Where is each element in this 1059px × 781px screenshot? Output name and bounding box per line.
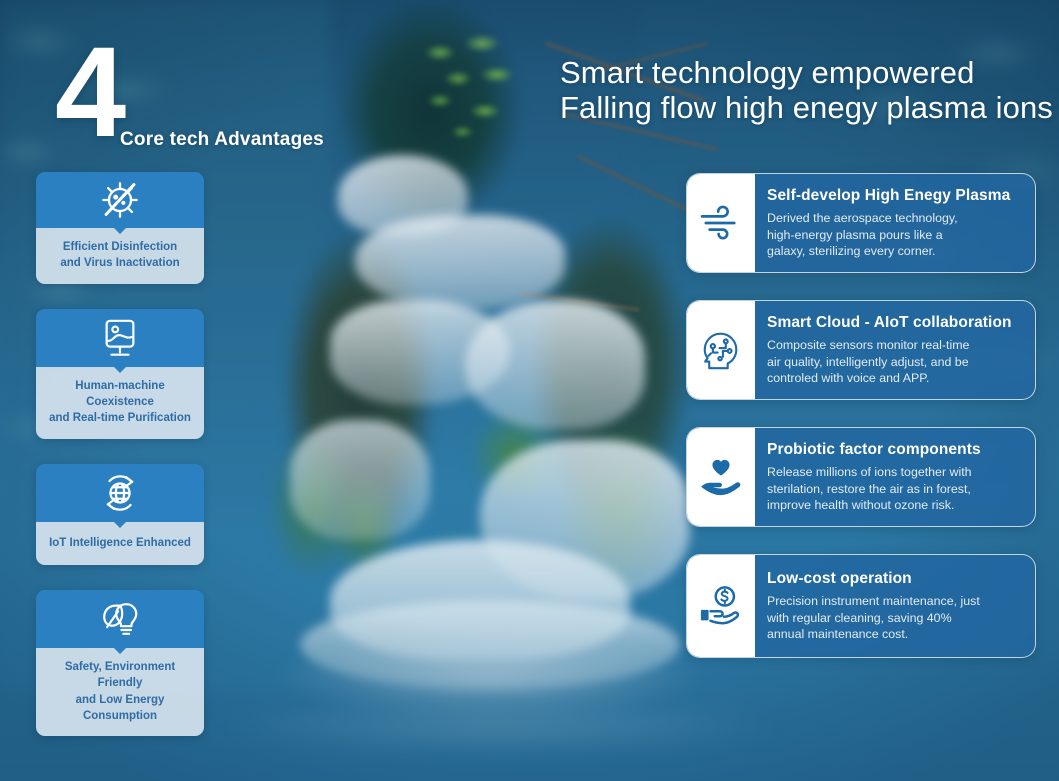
left-card-label-line2: and Real-time Purification [42, 410, 198, 426]
core-tech-subtitle: Core tech Advantages [120, 129, 324, 151]
left-card-label-line1: Human-machine Coexistence [42, 378, 198, 411]
left-card-icon-panel [36, 590, 204, 648]
leaf-bulb-icon [96, 597, 144, 641]
page-title-line1: Smart technology empowered [560, 55, 974, 90]
left-card-label: Safety, Environment Friendly and Low Ene… [36, 648, 204, 736]
left-card-notch [113, 366, 127, 373]
right-card-description: Derived the aerospace technology, high-e… [767, 210, 1022, 260]
right-feature-card-lowcost[interactable]: Low-cost operation Precision instrument … [686, 554, 1036, 658]
right-card-title: Low-cost operation [767, 570, 1022, 589]
right-card-icon-panel [687, 428, 755, 526]
right-card-text: Probiotic factor components Release mill… [755, 428, 1035, 526]
left-feature-card-iot[interactable]: IoT Intelligence Enhanced [36, 464, 204, 565]
left-card-label: Human-machine Coexistence and Real-time … [36, 367, 204, 439]
right-card-desc-line1: Release millions of ions together with [767, 464, 1022, 481]
right-card-text: Low-cost operation Precision instrument … [755, 555, 1035, 657]
right-feature-card-probiotic[interactable]: Probiotic factor components Release mill… [686, 427, 1036, 527]
right-card-desc-line3: galaxy, sterilizing every corner. [767, 243, 1022, 260]
right-card-desc-line1: Precision instrument maintenance, just [767, 593, 1022, 610]
right-card-desc-line2: sterilation, restore the air as in fores… [767, 481, 1022, 498]
left-feature-card-list: Efficient Disinfection and Virus Inactiv… [36, 172, 204, 761]
left-card-label: Efficient Disinfection and Virus Inactiv… [36, 228, 204, 284]
left-card-label-line1: Efficient Disinfection [42, 239, 198, 255]
virus-blocked-icon [97, 177, 143, 223]
right-card-icon-panel [687, 555, 755, 657]
right-card-desc-line1: Composite sensors monitor real-time [767, 337, 1022, 354]
left-card-notch [113, 521, 127, 528]
left-card-label: IoT Intelligence Enhanced [36, 522, 204, 565]
left-feature-card-eco[interactable]: Safety, Environment Friendly and Low Ene… [36, 590, 204, 736]
left-card-notch [113, 647, 127, 654]
right-card-description: Release millions of ions together with s… [767, 464, 1022, 514]
right-card-text: Smart Cloud - AIoT collaboration Composi… [755, 301, 1035, 399]
right-card-desc-line3: controled with voice and APP. [767, 370, 1022, 387]
wind-airflow-icon [698, 205, 744, 241]
right-card-description: Composite sensors monitor real-time air … [767, 337, 1022, 387]
hand-heart-icon [697, 457, 745, 497]
right-card-title: Probiotic factor components [767, 441, 1022, 460]
left-card-icon-panel [36, 464, 204, 522]
page-title-line2: Falling flow high enegy plasma ions [560, 91, 1050, 126]
left-card-notch [113, 227, 127, 234]
air-purifier-monitor-icon [99, 316, 141, 360]
right-feature-card-list: Self-develop High Enegy Plasma Derived t… [686, 173, 1036, 685]
core-tech-count: 4 [55, 38, 122, 148]
right-card-icon-panel [687, 301, 755, 399]
right-card-desc-line1: Derived the aerospace technology, [767, 210, 1022, 227]
right-card-desc-line2: high-energy plasma pours like a [767, 227, 1022, 244]
right-card-title: Self-develop High Enegy Plasma [767, 187, 1022, 206]
right-card-desc-line2: air quality, intelligently adjust, and b… [767, 354, 1022, 371]
page-title: Smart technology empowered Falling flow … [560, 56, 1050, 125]
left-card-label-line2: and Low Energy Consumption [42, 692, 198, 725]
right-feature-card-aiot[interactable]: Smart Cloud - AIoT collaboration Composi… [686, 300, 1036, 400]
right-card-desc-line3: annual maintenance cost. [767, 626, 1022, 643]
left-feature-card-coexistence[interactable]: Human-machine Coexistence and Real-time … [36, 309, 204, 439]
left-card-icon-panel [36, 172, 204, 228]
globe-refresh-icon [97, 471, 143, 515]
right-card-desc-line3: improve health without ozone risk. [767, 497, 1022, 514]
left-card-label-line2: and Virus Inactivation [42, 255, 198, 271]
left-feature-card-disinfection[interactable]: Efficient Disinfection and Virus Inactiv… [36, 172, 204, 284]
left-card-icon-panel [36, 309, 204, 367]
left-card-label-line1: IoT Intelligence Enhanced [42, 535, 198, 551]
right-card-title: Smart Cloud - AIoT collaboration [767, 314, 1022, 333]
ai-head-circuit-icon [699, 327, 743, 373]
right-card-description: Precision instrument maintenance, just w… [767, 593, 1022, 643]
right-card-icon-panel [687, 174, 755, 272]
right-card-text: Self-develop High Enegy Plasma Derived t… [755, 174, 1035, 272]
hand-coin-dollar-icon [697, 584, 745, 628]
right-card-desc-line2: with regular cleaning, saving 40% [767, 610, 1022, 627]
right-feature-card-plasma[interactable]: Self-develop High Enegy Plasma Derived t… [686, 173, 1036, 273]
left-card-label-line1: Safety, Environment Friendly [42, 659, 198, 692]
